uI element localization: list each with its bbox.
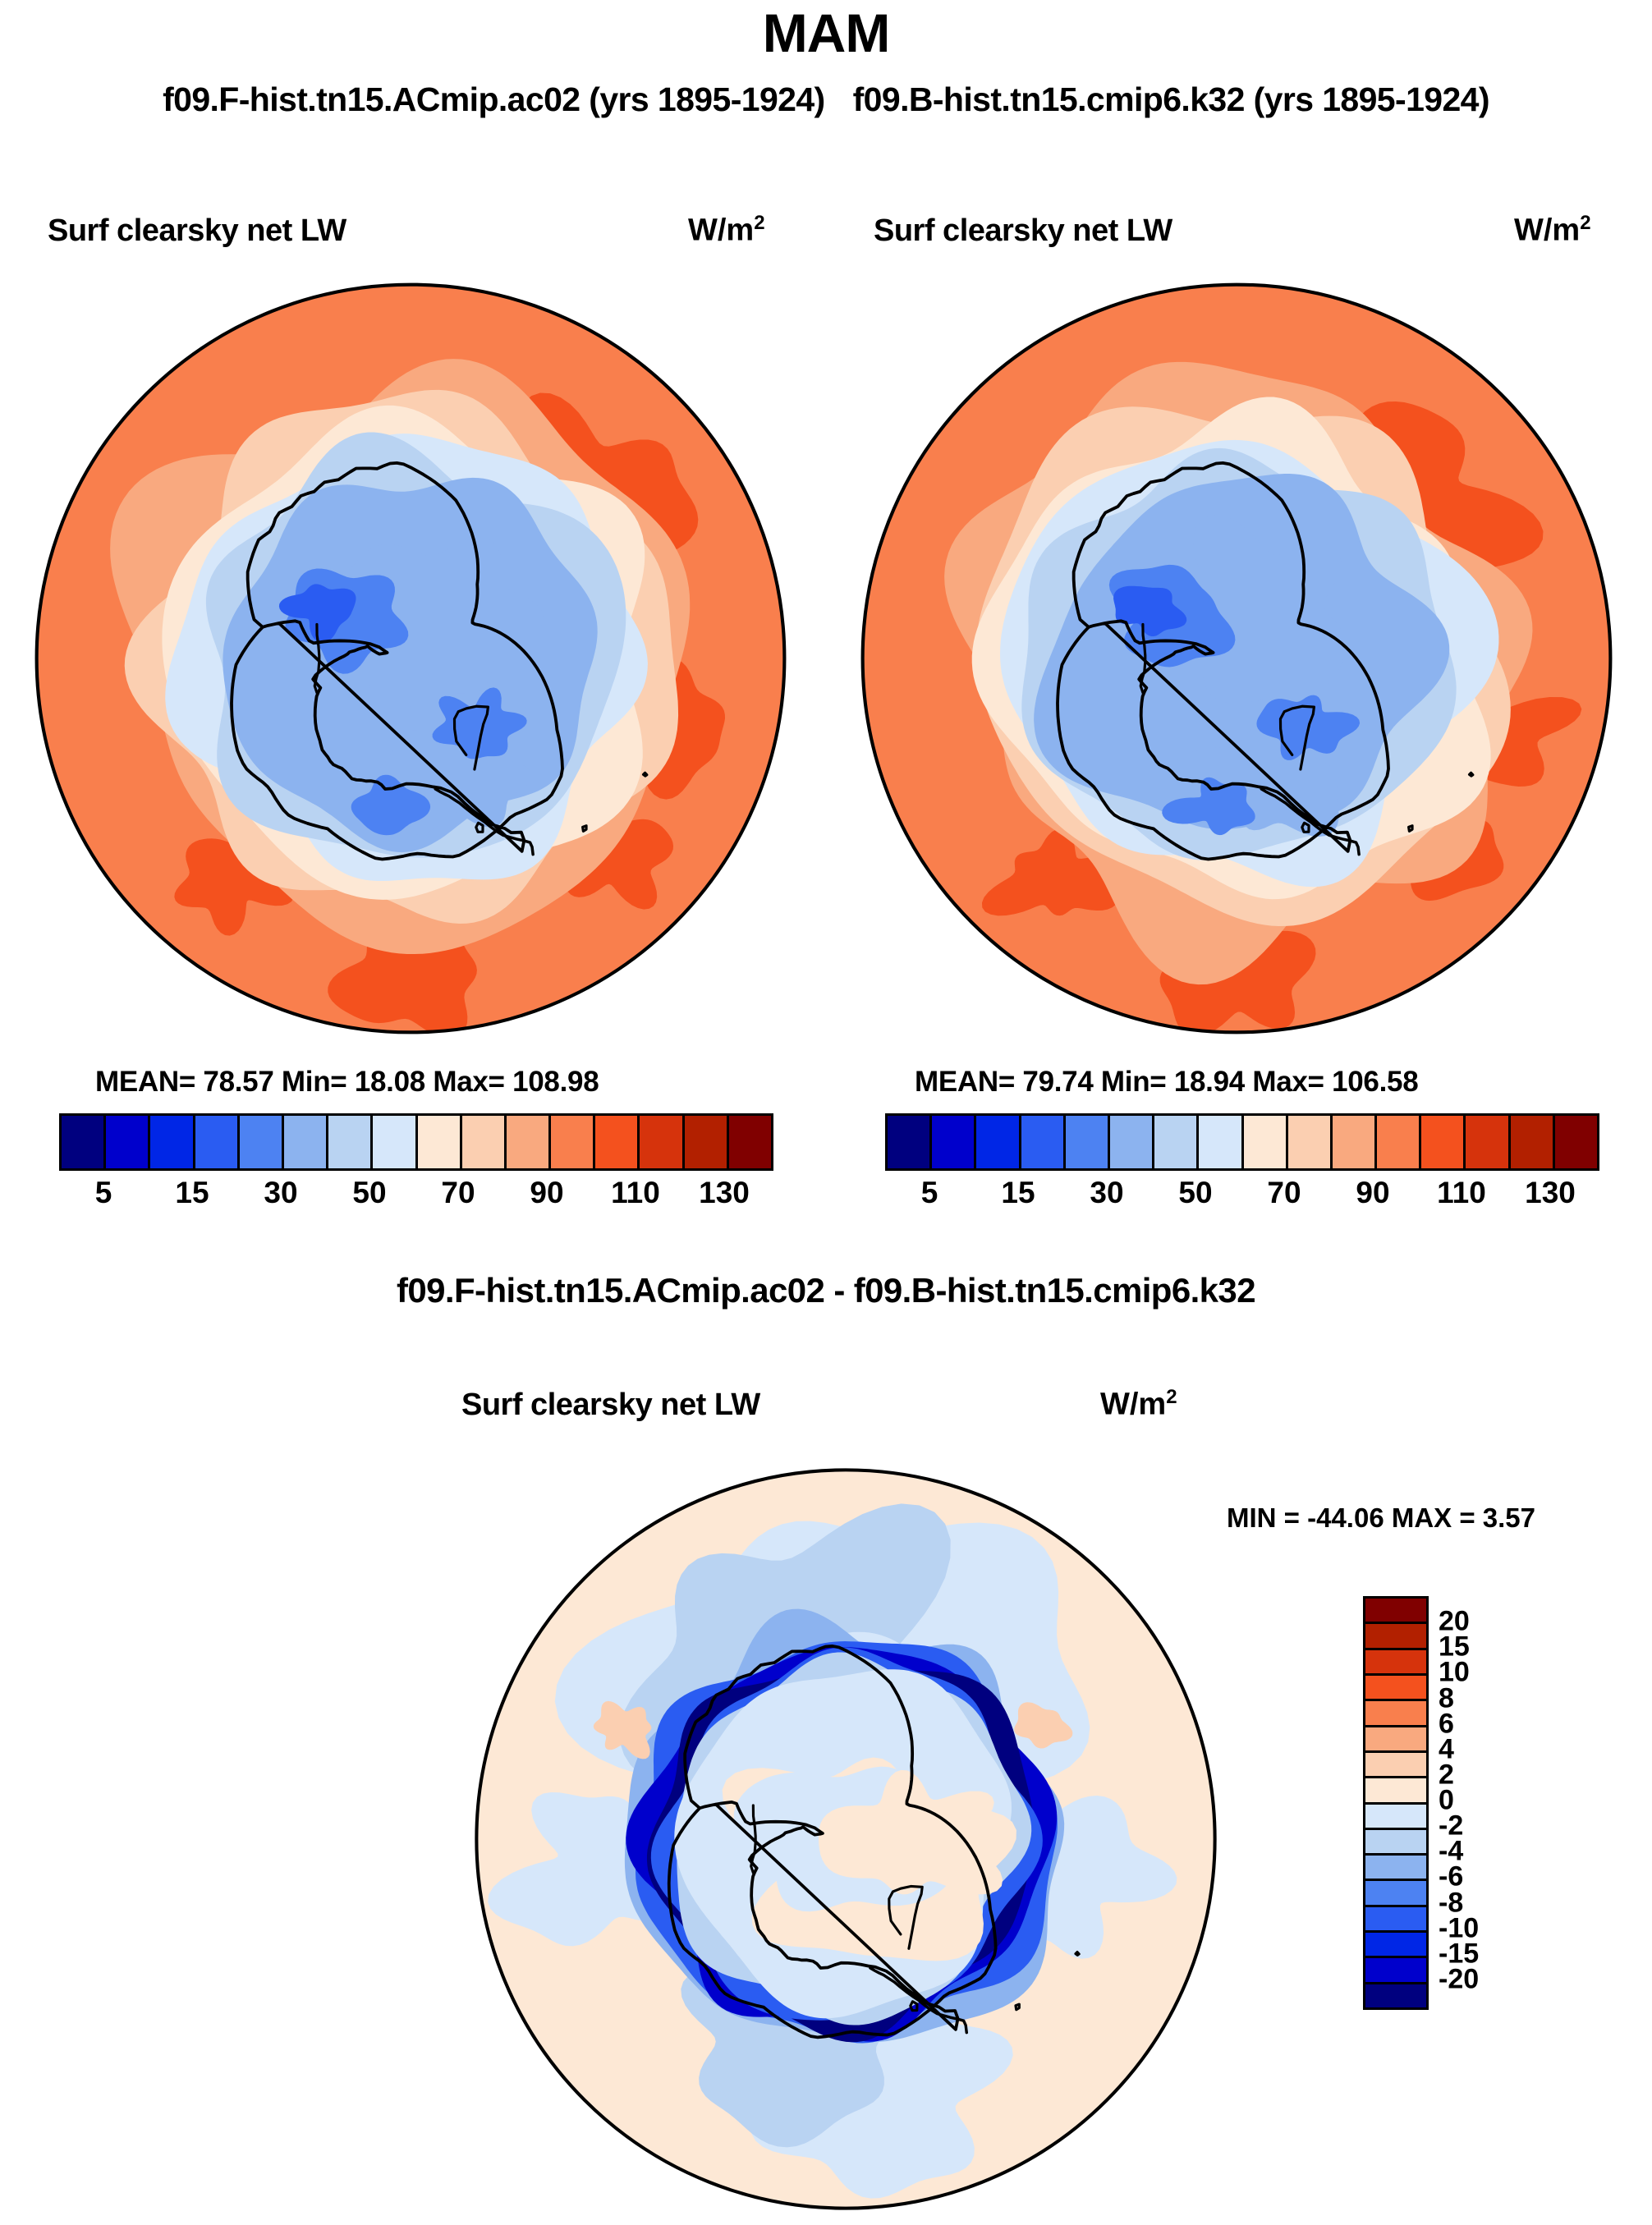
colorbar-cell [729,1116,771,1168]
case-subtitle-row: f09.F-hist.tn15.ACmip.ac02 (yrs 1895-192… [0,80,1652,119]
colorbar-cell [62,1116,106,1168]
colorbar-cell [1365,1907,1426,1933]
colorbar-left [59,1113,773,1171]
colorbar-cell [1154,1116,1199,1168]
panel-right-stats: MEAN= 79.74 Min= 18.94 Max= 106.58 [915,1066,1418,1099]
colorbar-cell [551,1116,595,1168]
colorbar-cell [1365,1778,1426,1804]
panel-difference: Surf clearsky net LW W/m2 MIN = -44.06 M… [0,1363,1652,2210]
panel-right-variable-label: Surf clearsky net LW [874,213,1172,249]
colorbar-cell [1365,1984,1426,2007]
colorbar-tick-label: 5 [95,1176,112,1210]
colorbar-tick-label: 110 [611,1176,660,1210]
coastline [1076,1952,1079,1956]
colorbar-cell [328,1116,373,1168]
colorbar-cell [507,1116,551,1168]
colorbar-cell [1365,1624,1426,1649]
colorbar-cell [1066,1116,1110,1168]
colorbar-tick-label: 5 [921,1176,938,1210]
colorbar-right-labels: 51530507090110130 [885,1176,1599,1212]
colorbar-tick-label: 15 [175,1176,209,1210]
colorbar-cell [888,1116,932,1168]
colorbar-tick-label: 90 [530,1176,563,1210]
colorbar-cell [595,1116,640,1168]
panel-case-b: Surf clearsky net LW W/m2 MEAN= 79.74 Mi… [826,123,1652,1108]
panel-right-units-label: W/m2 [1514,212,1591,249]
colorbar-tick-label: 130 [699,1176,750,1210]
colorbar-left-labels: 51530507090110130 [59,1176,773,1212]
panel-left-stats: MEAN= 78.57 Min= 18.08 Max= 108.98 [95,1066,599,1099]
panel-diff-units-label: W/m2 [1100,1386,1177,1423]
panel-right-units-exponent: 2 [1580,212,1590,234]
colorbar-cell [462,1116,507,1168]
colorbar-tick-label: 15 [1001,1176,1035,1210]
colorbar-cell [373,1116,417,1168]
colorbar-cell [1333,1116,1377,1168]
map-difference-svg [460,1453,1232,2225]
colorbar-cell [1365,1650,1426,1676]
panel-right-units-text: W/m [1514,213,1580,248]
panel-left-units-label: W/m2 [688,212,765,249]
panel-diff-variable-label: Surf clearsky net LW [461,1388,760,1423]
map-left-svg [20,268,801,1049]
case-b-label: f09.B-hist.tn15.cmip6.k32 (yrs 1895-1924… [853,80,1489,119]
colorbar-cell [1365,1701,1426,1727]
colorbar-cell [1199,1116,1243,1168]
colorbar-cell [1288,1116,1333,1168]
colorbar-cell [1244,1116,1288,1168]
colorbar-cell [685,1116,729,1168]
colorbar-tick-label: -20 [1439,1963,1479,1995]
map-right-svg [846,268,1627,1049]
colorbar-cell [640,1116,684,1168]
colorbar-cell [1365,1676,1426,1701]
colorbar-cell [1365,1933,1426,1958]
map-left [20,268,801,1049]
coastline [1470,773,1473,776]
colorbar-cell [195,1116,240,1168]
panel-left-variable-label: Surf clearsky net LW [48,213,346,249]
colorbar-cell [1365,1599,1426,1624]
colorbar-cell [1377,1116,1421,1168]
panel-diff-units-text: W/m [1100,1388,1166,1422]
colorbar-tick-label: 70 [1267,1176,1301,1210]
colorbar-cell [932,1116,976,1168]
colorbar-tick-label: 50 [1178,1176,1212,1210]
colorbar-cell [1466,1116,1510,1168]
page-title: MAM [0,2,1652,64]
colorbar-cell [240,1116,284,1168]
map-right [846,268,1627,1049]
map-difference [460,1453,1232,2225]
colorbar-cell [1511,1116,1555,1168]
colorbar-tick-label: 30 [1090,1176,1123,1210]
colorbar-cell [284,1116,328,1168]
colorbar-cell [1365,1958,1426,1984]
colorbar-tick-label: 130 [1525,1176,1576,1210]
colorbar-cell [1365,1805,1426,1830]
panel-case-a: Surf clearsky net LW W/m2 MEAN= 78.57 Mi… [0,123,826,1108]
colorbar-tick-label: 70 [441,1176,475,1210]
panel-diff-units-exponent: 2 [1166,1386,1177,1408]
colorbar-cell [1365,1856,1426,1881]
colorbar-right [885,1113,1599,1171]
case-a-label: f09.F-hist.tn15.ACmip.ac02 (yrs 1895-192… [163,80,825,119]
colorbar-cell [1110,1116,1154,1168]
colorbar-tick-label: 50 [352,1176,386,1210]
colorbar-cell [1421,1116,1466,1168]
colorbar-cell [418,1116,462,1168]
panel-diff-minmax: MIN = -44.06 MAX = 3.57 [1227,1502,1535,1534]
colorbar-tick-label: 110 [1437,1176,1486,1210]
coastline [644,773,647,776]
colorbar-cell [150,1116,195,1168]
colorbar-tick-label: 90 [1356,1176,1389,1210]
panel-left-units-text: W/m [688,213,754,248]
colorbar-cell [976,1116,1021,1168]
panel-left-units-exponent: 2 [754,212,764,234]
difference-title: f09.F-hist.tn15.ACmip.ac02 - f09.B-hist.… [0,1271,1652,1310]
colorbar-cell [1365,1830,1426,1856]
colorbar-cell [1365,1753,1426,1778]
colorbar-tick-label: 30 [264,1176,297,1210]
colorbar-cell [1021,1116,1066,1168]
colorbar-cell [1365,1727,1426,1753]
colorbar-difference [1363,1596,1429,2010]
colorbar-cell [106,1116,150,1168]
colorbar-cell [1555,1116,1597,1168]
colorbar-cell [1365,1881,1426,1906]
